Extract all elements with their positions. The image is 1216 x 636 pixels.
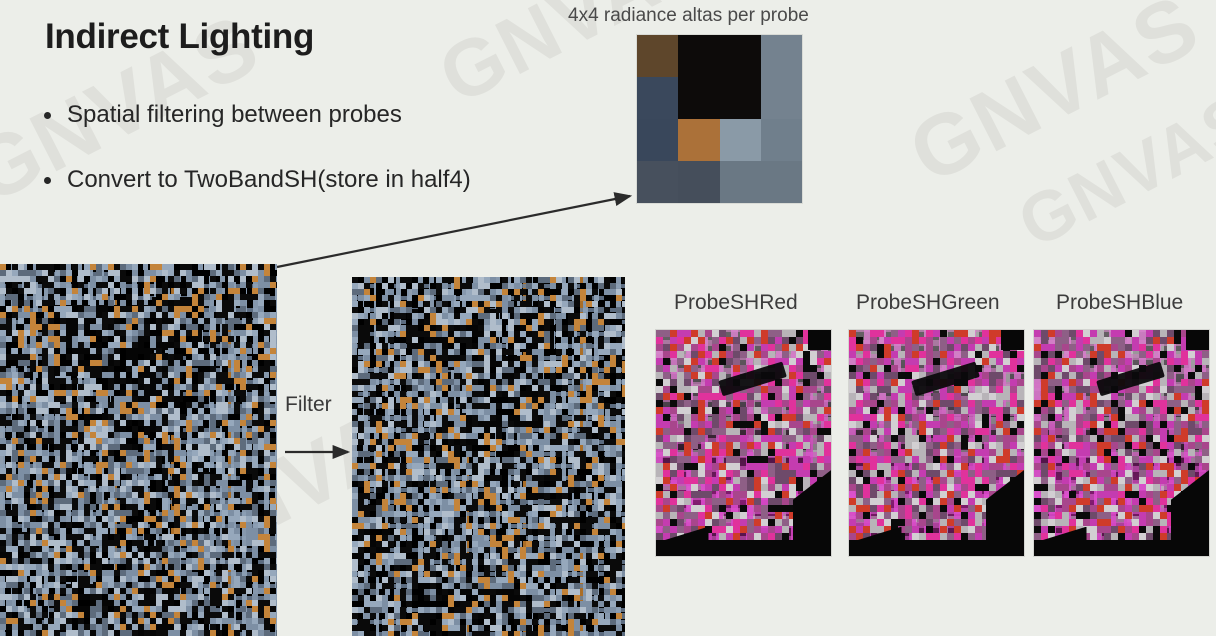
atlas-cell-9	[678, 119, 719, 161]
sh-thumbnail-green	[849, 330, 1024, 556]
sh-corner-mask	[656, 540, 831, 556]
atlas-caption: 4x4 radiance altas per probe	[568, 5, 809, 27]
atlas-cell-15	[761, 161, 802, 203]
sh-corner-mask	[808, 330, 831, 350]
background-watermark: GNVAS	[894, 0, 1215, 204]
sh-label-green: ProbeSHGreen	[856, 291, 1000, 315]
atlas-cell-0	[637, 35, 678, 77]
bullet-dot-icon	[44, 177, 51, 184]
atlas-cell-5	[678, 77, 719, 119]
slide-canvas: GNVAS GNVAS GNVAS GNVAS GNVAS Indirect L…	[0, 0, 1216, 636]
probe-atlas-filtered	[352, 277, 625, 636]
filter-label: Filter	[285, 393, 332, 417]
atlas-cell-14	[720, 161, 761, 203]
sh-corner-mask	[849, 540, 1024, 556]
atlas-cell-2	[720, 35, 761, 77]
atlas-cell-1	[678, 35, 719, 77]
probe-speckle	[352, 277, 625, 636]
probe-atlas-unfiltered	[0, 264, 277, 636]
radiance-atlas-grid	[637, 35, 802, 203]
sh-corner-mask	[1034, 540, 1209, 556]
bullet-text: Spatial filtering between probes	[67, 101, 402, 129]
atlas-cell-7	[761, 77, 802, 119]
atlas-cell-3	[761, 35, 802, 77]
atlas-cell-6	[720, 77, 761, 119]
bullet-dot-icon	[44, 112, 51, 119]
atlas-cell-12	[637, 161, 678, 203]
bullet-item: Spatial filtering between probes	[44, 101, 402, 129]
bullet-item: Convert to TwoBandSH(store in half4)	[44, 166, 471, 194]
atlas-cell-13	[678, 161, 719, 203]
atlas-cell-8	[637, 119, 678, 161]
sh-thumbnail-blue	[1034, 330, 1209, 556]
sh-label-red: ProbeSHRed	[674, 291, 798, 315]
sh-corner-mask	[1186, 330, 1209, 350]
slide-title: Indirect Lighting	[45, 17, 314, 57]
atlas-cell-4	[637, 77, 678, 119]
background-watermark: GNVAS	[1006, 77, 1216, 263]
sh-label-blue: ProbeSHBlue	[1056, 291, 1183, 315]
atlas-cell-10	[720, 119, 761, 161]
atlas-cell-11	[761, 119, 802, 161]
bullet-text: Convert to TwoBandSH(store in half4)	[67, 166, 471, 194]
probe-speckle	[0, 264, 277, 636]
sh-corner-mask	[1001, 330, 1024, 350]
sh-thumbnail-red	[656, 330, 831, 556]
